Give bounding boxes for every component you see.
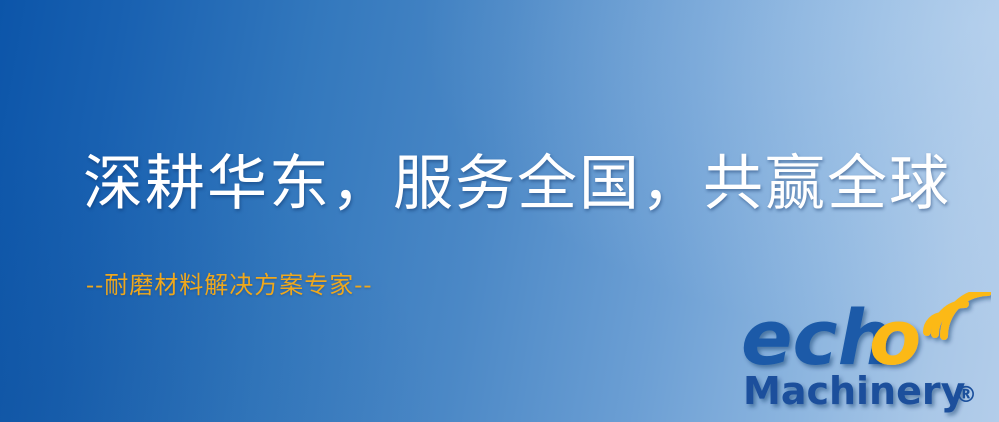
logo-svg: ech o Machinery ®	[739, 292, 991, 420]
banner-headline: 深耕华东，服务全国，共赢全球	[83, 151, 951, 217]
registered-trademark-icon: ®	[955, 383, 977, 408]
signal-arcs-icon	[927, 292, 988, 336]
banner-subheadline: --耐磨材料解决方案专家--	[86, 265, 372, 300]
logo-subword-machinery: Machinery	[743, 369, 966, 413]
hero-banner: 深耕华东，服务全国，共赢全球 --耐磨材料解决方案专家-- ech o Mach…	[0, 0, 999, 422]
echo-machinery-logo[interactable]: ech o Machinery ®	[739, 292, 991, 420]
